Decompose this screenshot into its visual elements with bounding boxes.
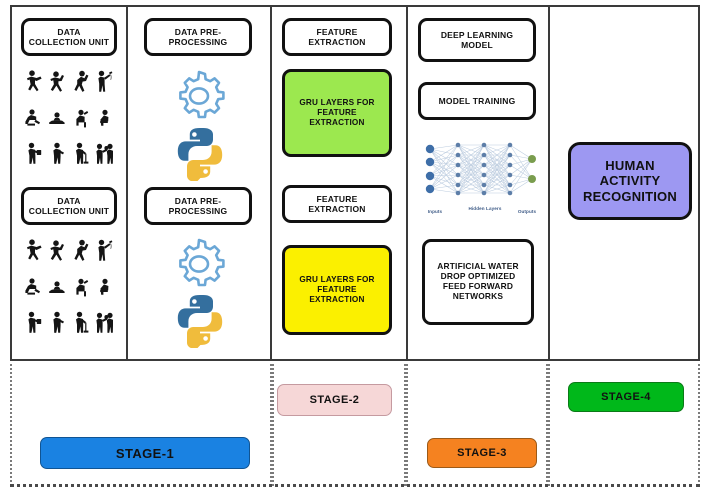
people-activity-icons-1 (22, 65, 116, 173)
activity-icon-stretch (47, 70, 67, 96)
activity-icon-paint (94, 239, 114, 265)
node-feature-extraction-1[interactable]: FEATURE EXTRACTION (282, 18, 392, 56)
activity-icon-sit-chair (70, 108, 92, 130)
stage-chip-1[interactable]: STAGE-1 (40, 437, 250, 469)
activity-icon-lie-down (46, 277, 68, 299)
node-data-collection-unit-2[interactable]: DATA COLLECTION UNIT (21, 187, 117, 225)
python-logo-icon-2 (172, 292, 228, 353)
node-label: DATA COLLECTION UNIT (28, 196, 110, 216)
node-human-activity-recognition[interactable]: HUMAN ACTIVITY RECOGNITION (568, 142, 692, 220)
node-model-training[interactable]: MODEL TRAINING (418, 82, 536, 120)
stage-label: STAGE-2 (310, 394, 360, 406)
column-divider-1 (126, 7, 128, 359)
node-label: MODEL TRAINING (425, 96, 529, 106)
node-label: FEATURE EXTRACTION (289, 194, 385, 214)
node-label: DATA COLLECTION UNIT (28, 27, 110, 47)
gear-icon-2 (168, 235, 230, 298)
nn-outputs-label: Outputs (510, 209, 544, 215)
column-divider-4 (548, 7, 550, 359)
activity-icon-sit-work (23, 108, 45, 130)
node-label: GRU LAYERS FOR FEATURE EXTRACTION (289, 98, 385, 127)
node-awdo-feed-forward-networks[interactable]: ARTIFICIAL WATER DROP OPTIMIZED FEED FOR… (422, 239, 534, 325)
activity-icon-handshake (94, 311, 114, 337)
node-gru-layers-1[interactable]: GRU LAYERS FOR FEATURE EXTRACTION (282, 69, 392, 157)
stage-chip-4[interactable]: STAGE-4 (568, 382, 684, 412)
node-data-preprocessing-1[interactable]: DATA PRE-PROCESSING (144, 18, 252, 56)
nn-hidden-layers-label: Hidden Layers (466, 206, 504, 212)
activity-icon-carry (24, 142, 44, 168)
node-data-collection-unit-1[interactable]: DATA COLLECTION UNIT (21, 18, 117, 56)
gear-icon-1 (168, 67, 230, 130)
column-divider-3 (406, 7, 408, 359)
activity-icon-stand (47, 311, 67, 337)
activity-icon-vacuum (71, 142, 91, 168)
stage-chip-2[interactable]: STAGE-2 (277, 384, 392, 416)
stage-chip-3[interactable]: STAGE-3 (427, 438, 537, 468)
node-label: GRU LAYERS FOR FEATURE EXTRACTION (289, 275, 385, 304)
activity-icon-carry (24, 311, 44, 337)
node-feature-extraction-2[interactable]: FEATURE EXTRACTION (282, 185, 392, 223)
python-logo-icon-1 (172, 125, 228, 186)
stage-label: STAGE-3 (457, 447, 507, 459)
nn-inputs-label: Inputs (418, 209, 452, 215)
activity-icon-handshake (94, 142, 114, 168)
activity-icon-walk (24, 70, 44, 96)
column-divider-2 (270, 7, 272, 359)
activity-icon-sit-chair (70, 277, 92, 299)
node-label: DATA PRE-PROCESSING (151, 196, 245, 216)
activity-icon-bend (71, 239, 91, 265)
har-pipeline-diagram: DATA COLLECTION UNIT DATA COLLECTION UNI… (0, 0, 708, 496)
activity-icon-lie-down (46, 108, 68, 130)
stage-lane-baseline (10, 484, 700, 487)
node-label: DATA PRE-PROCESSING (151, 27, 245, 47)
node-label: DEEP LEARNING MODEL (425, 30, 529, 50)
activity-icon-crouch (93, 108, 115, 130)
pipeline-panel: DATA COLLECTION UNIT DATA COLLECTION UNI… (10, 5, 700, 361)
activity-icon-paint (94, 70, 114, 96)
node-label: FEATURE EXTRACTION (289, 27, 385, 47)
activity-icon-walk (24, 239, 44, 265)
people-activity-icons-2 (22, 234, 116, 342)
stage-label: STAGE-4 (601, 391, 651, 403)
node-label: ARTIFICIAL WATER DROP OPTIMIZED FEED FOR… (429, 262, 527, 302)
activity-icon-crouch (93, 277, 115, 299)
node-label: HUMAN ACTIVITY RECOGNITION (575, 158, 685, 204)
node-gru-layers-2[interactable]: GRU LAYERS FOR FEATURE EXTRACTION (282, 245, 392, 335)
node-deep-learning-model[interactable]: DEEP LEARNING MODEL (418, 18, 536, 62)
stage-lane-2 (272, 364, 406, 486)
stage-label: STAGE-1 (116, 446, 174, 461)
activity-icon-stretch (47, 239, 67, 265)
activity-icon-bend (71, 70, 91, 96)
node-data-preprocessing-2[interactable]: DATA PRE-PROCESSING (144, 187, 252, 225)
activity-icon-stand (47, 142, 67, 168)
activity-icon-vacuum (71, 311, 91, 337)
activity-icon-sit-work (23, 277, 45, 299)
